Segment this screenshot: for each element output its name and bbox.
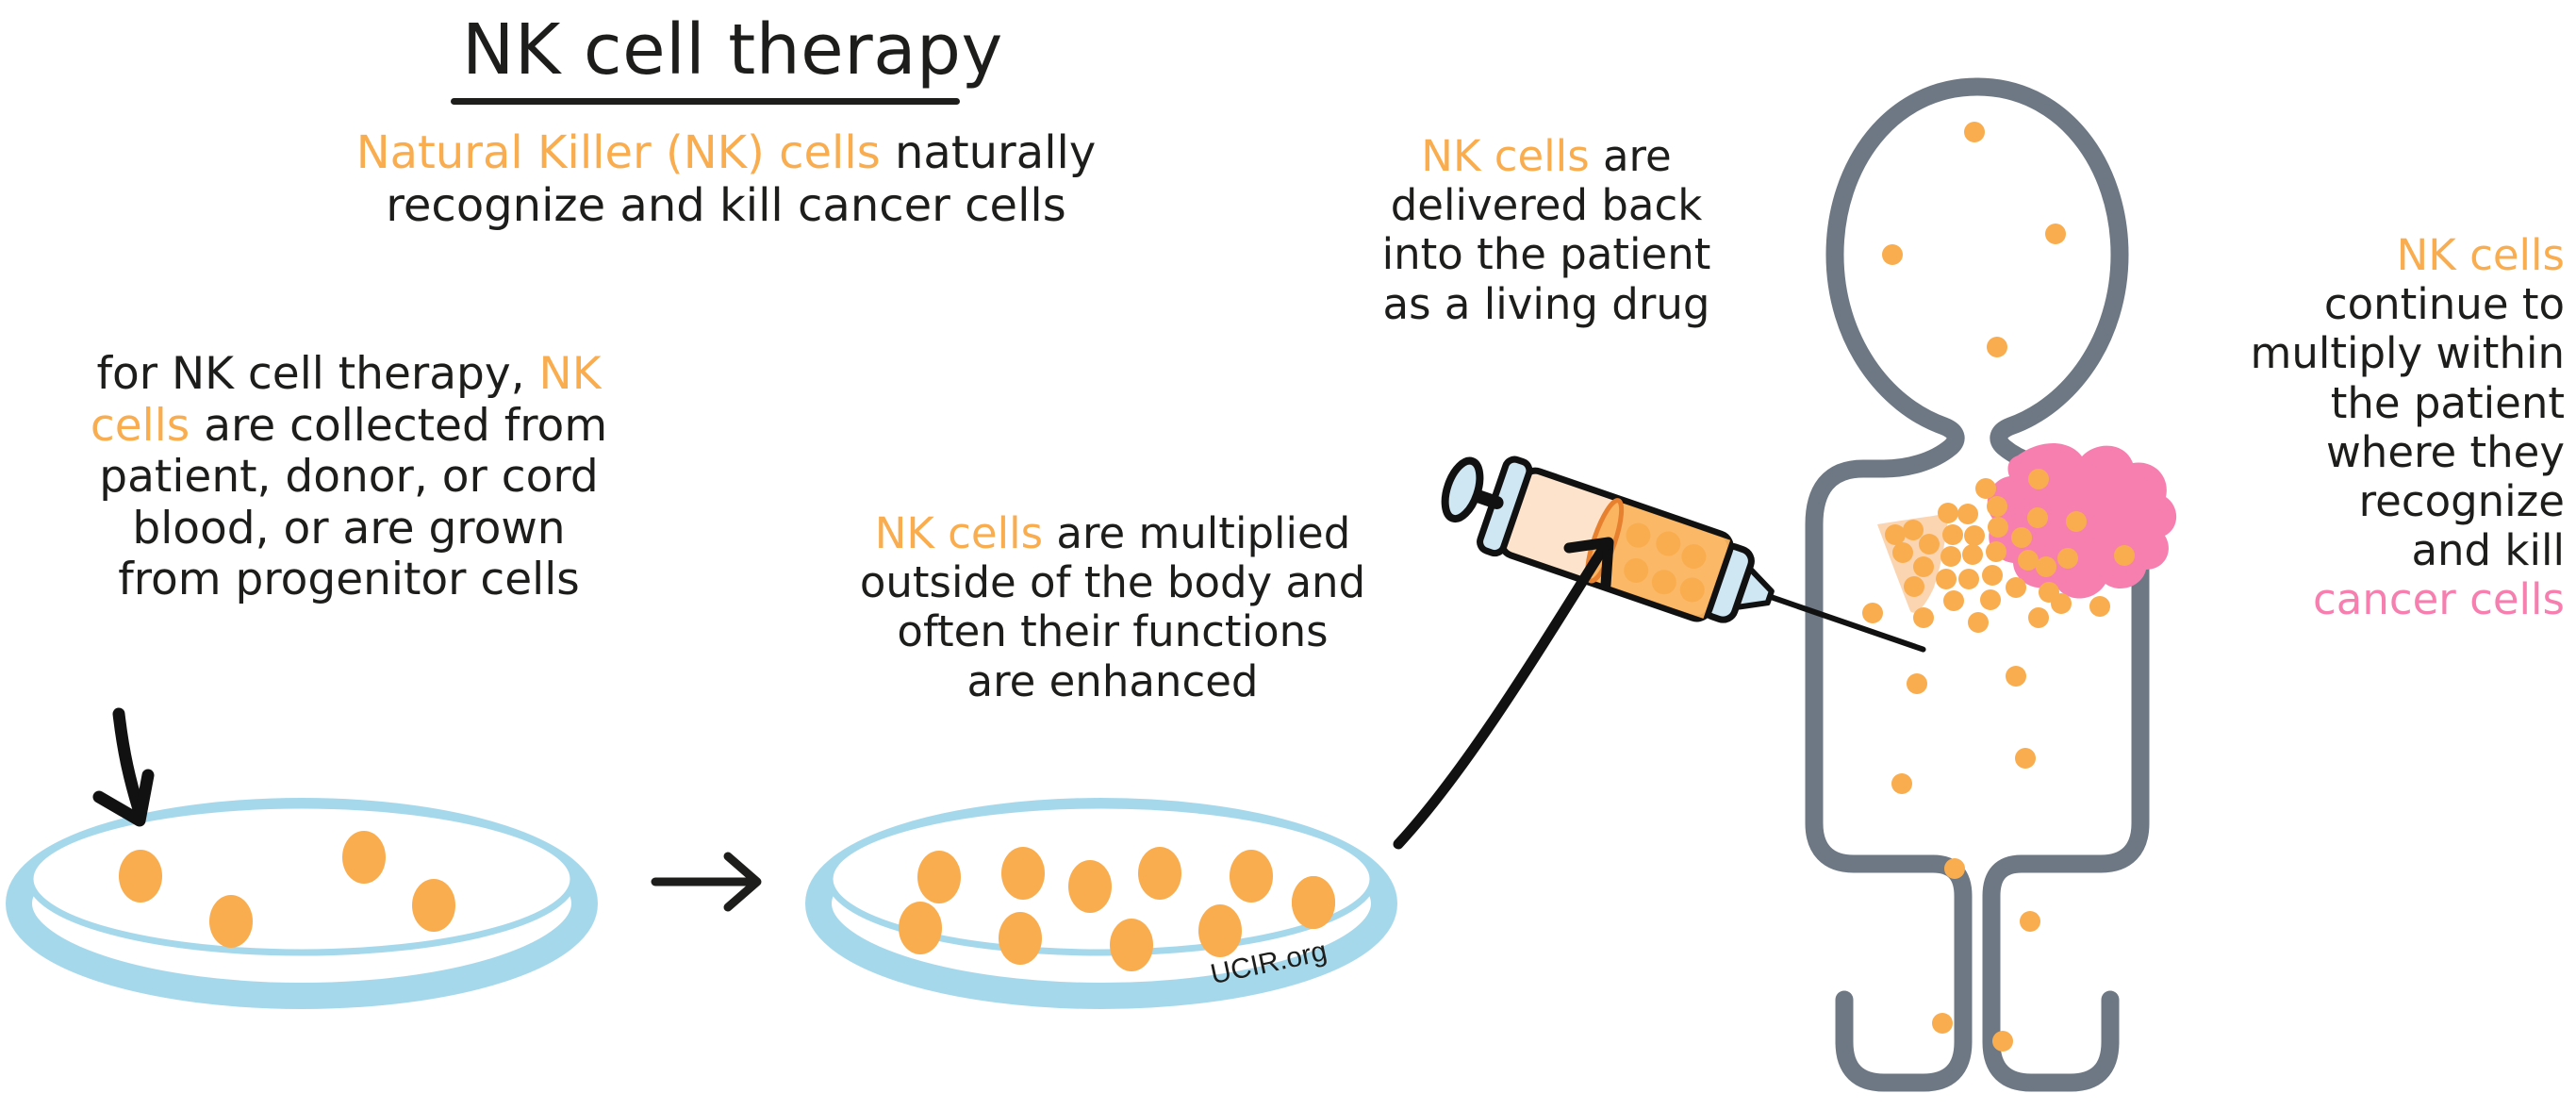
nk-cell [2089, 596, 2110, 617]
nk-cell [1987, 337, 2007, 357]
nk-cell [1862, 603, 1883, 623]
nk-cell [2006, 577, 2026, 598]
nk-cell [1982, 565, 2003, 586]
nk-cell [2011, 527, 2032, 548]
nk-cell [2015, 748, 2036, 769]
nk-cell [1958, 569, 1979, 589]
nk-cell [1987, 496, 2007, 517]
tumor-cell [2066, 511, 2087, 532]
nk-cell [2018, 550, 2039, 571]
syringe-thumb-pad [1438, 456, 1486, 523]
nk-cell [2020, 911, 2040, 932]
nk-cell [1885, 524, 1906, 545]
infographic-canvas: NK cell therapy Natural Killer (NK) cell… [0, 0, 2576, 1110]
syringe [1432, 441, 1939, 696]
nk-cell [1913, 607, 1934, 628]
dish-2-nk-cell [1068, 860, 1112, 913]
dish-2-nk-cell [1001, 847, 1045, 900]
nk-cell [1903, 520, 1924, 540]
nk-cell [1968, 612, 1989, 633]
nk-cell [1913, 556, 1934, 577]
tumor-cell [2114, 545, 2135, 566]
nk-cell [1882, 244, 1903, 265]
syringe-needle [1767, 596, 1923, 650]
dish-1-nk-cell [119, 850, 162, 903]
nk-cell [1988, 517, 2008, 538]
dish-2-nk-cell [1198, 904, 1242, 957]
tumor-cell [2027, 507, 2048, 528]
dish-1-nk-cell [209, 895, 253, 948]
nk-cell [1919, 534, 1940, 555]
infuse-arrow [1398, 542, 1609, 844]
nk-cell [1907, 673, 1927, 694]
dish-2-nk-cell [917, 851, 961, 903]
nk-cell [1944, 858, 1965, 879]
nk-cell [1940, 546, 1961, 567]
nk-cell [2051, 593, 2072, 614]
nk-cell [1986, 541, 2006, 562]
dish-2-nk-cell [899, 902, 942, 954]
dish-2-nk-cell [999, 912, 1042, 965]
nk-cell [2006, 666, 2026, 687]
collect-arrow [99, 714, 148, 820]
nk-cell [1904, 576, 1924, 597]
tumor-cell [2057, 548, 2078, 569]
nk-cell [1962, 544, 1983, 565]
dish-2-nk-cell [1292, 876, 1335, 929]
nk-cell [1975, 478, 1996, 499]
dish-2-nk-cell [1230, 850, 1273, 903]
nk-cell [1943, 590, 1964, 611]
nk-cell [1992, 1031, 2013, 1052]
transfer-arrow [655, 856, 757, 907]
nk-cell [1942, 524, 1963, 545]
nk-cell [1964, 525, 1985, 546]
nk-cell [1892, 542, 1913, 563]
nk-cell [1957, 504, 1978, 524]
dish-2-nk-cell [1138, 847, 1181, 900]
dish-1-nk-cell [342, 831, 386, 884]
nk-cell [1891, 773, 1912, 794]
nk-cell [2028, 607, 2049, 628]
dish-2-nk-cell [1110, 919, 1153, 971]
nk-cell [2045, 224, 2066, 244]
dish-1-rim-inner [30, 805, 573, 953]
nk-cell [1964, 122, 1985, 142]
tumor-cell [2028, 469, 2049, 489]
nk-cell [1938, 503, 1958, 523]
nk-cell [1980, 589, 2001, 610]
nk-cell [1936, 569, 1957, 589]
dish-1-nk-cell [412, 879, 455, 932]
nk-cell [2036, 556, 2056, 577]
petri-dish-1 [19, 805, 585, 996]
nk-cell [1932, 1013, 1953, 1034]
